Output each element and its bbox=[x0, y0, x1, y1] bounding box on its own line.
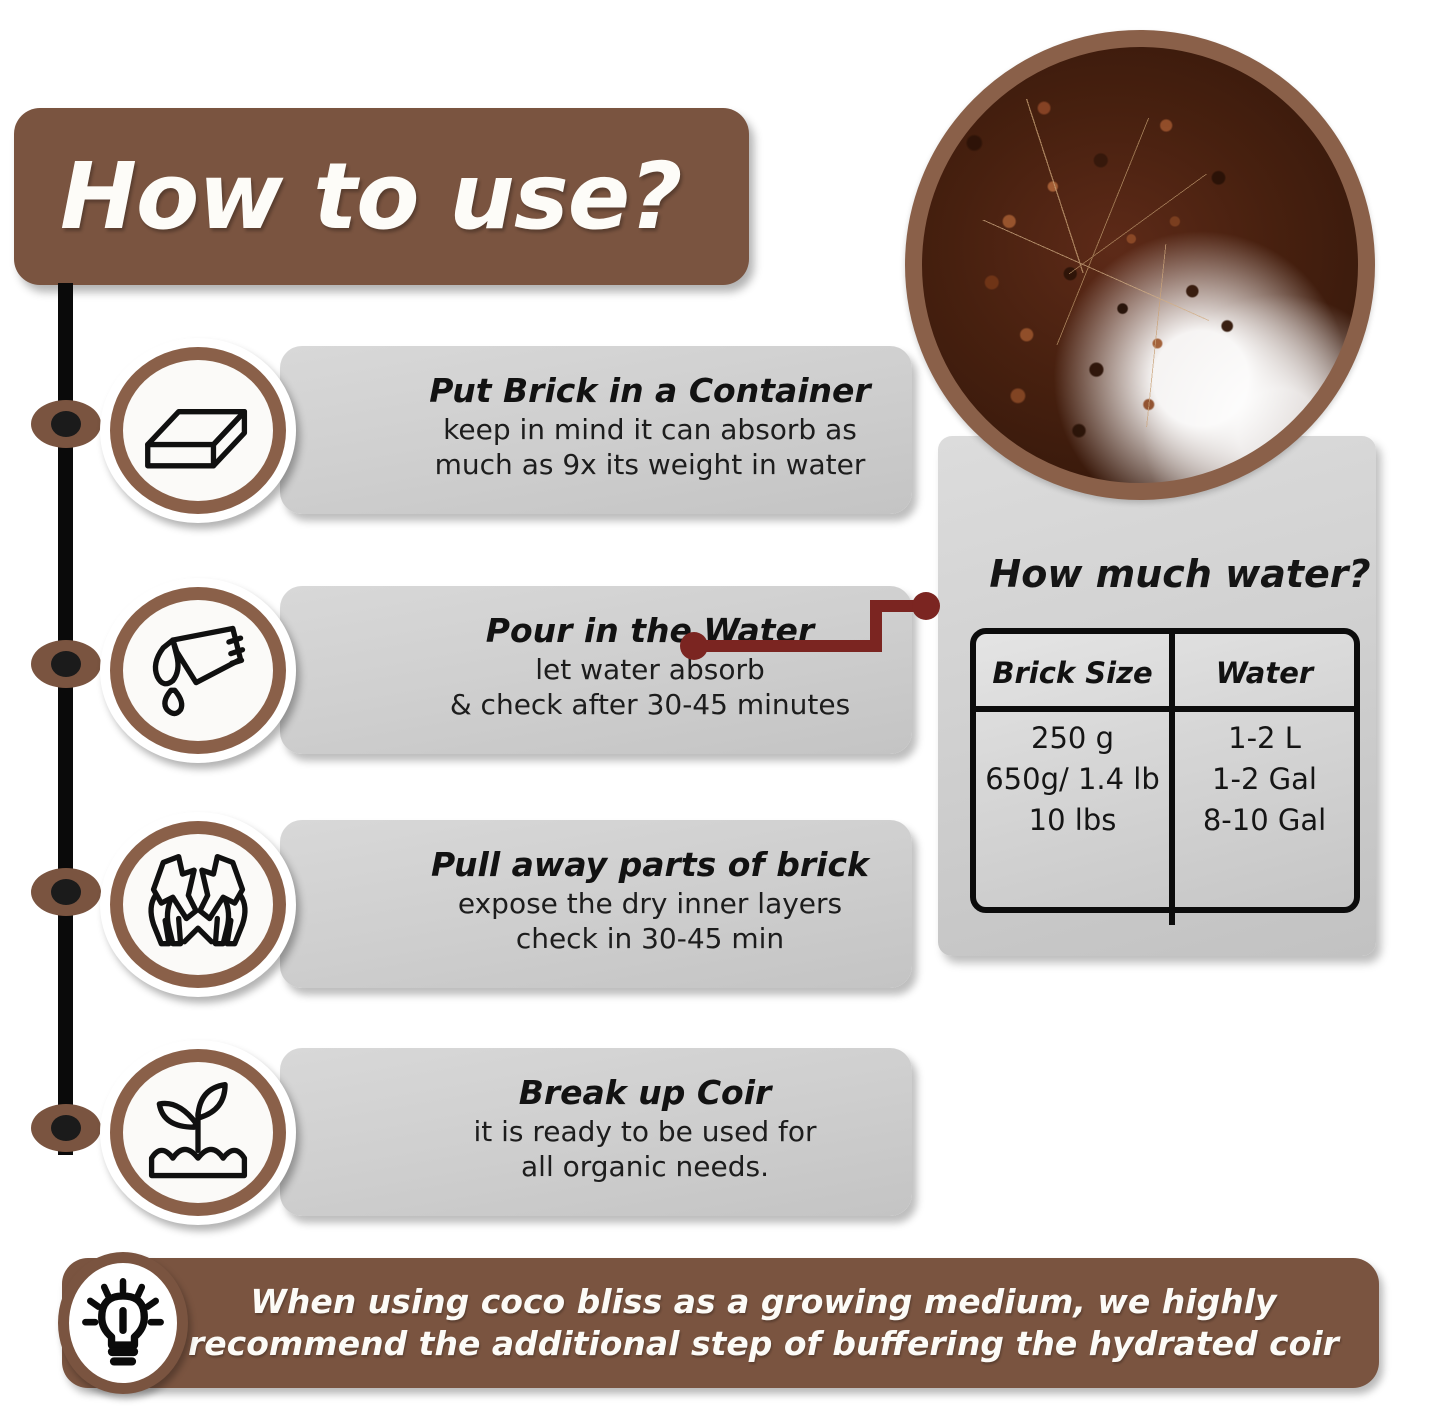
step-1-subtitle-line-1: keep in mind it can absorb as bbox=[443, 413, 857, 448]
footer-tip-line-1: When using coco bliss as a growing mediu… bbox=[188, 1281, 1339, 1323]
step-1-subtitle-line-2: much as 9x its weight in water bbox=[435, 448, 866, 483]
brick-size-row-2: 650g/ 1.4 lb bbox=[985, 759, 1160, 800]
step-3-icon-badge bbox=[100, 812, 296, 997]
table-header-divider bbox=[976, 706, 1354, 712]
water-requirement-table: Brick Size Water 250 g 650g/ 1.4 lb 10 l… bbox=[970, 628, 1360, 913]
table-cell-water-amounts: 1-2 L 1-2 Gal 8-10 Gal bbox=[1175, 718, 1354, 842]
coir-fiber-strands bbox=[922, 47, 1358, 483]
step-4-title: Break up Coir bbox=[519, 1075, 772, 1112]
footer-tip-line-2: recommend the additional step of bufferi… bbox=[188, 1323, 1339, 1365]
step-row-1: Put Brick in a Container keep in mind it… bbox=[100, 338, 912, 523]
footer-tip-banner: When using coco bliss as a growing mediu… bbox=[62, 1258, 1379, 1388]
step-3-subtitle-line-1: expose the dry inner layers bbox=[458, 887, 842, 922]
step-4-icon-badge bbox=[100, 1040, 296, 1225]
brick-size-row-1: 250 g bbox=[1031, 718, 1114, 759]
page-title: How to use? bbox=[60, 151, 681, 243]
table-column-header-water: Water bbox=[1175, 642, 1354, 704]
water-row-3: 8-10 Gal bbox=[1203, 800, 1326, 841]
water-row-1: 1-2 L bbox=[1228, 718, 1301, 759]
seedling-icon bbox=[140, 1075, 256, 1191]
step-card-4: Break up Coir it is ready to be used for… bbox=[280, 1048, 912, 1216]
step-card-1: Put Brick in a Container keep in mind it… bbox=[280, 346, 912, 514]
step-4-subtitle-line-1: it is ready to be used for bbox=[473, 1115, 816, 1150]
step-2-subtitle-line-2: & check after 30-45 minutes bbox=[450, 688, 850, 723]
watering-can-icon bbox=[140, 613, 256, 729]
title-banner: How to use? bbox=[14, 108, 749, 285]
step-row-3: Pull away parts of brick expose the dry … bbox=[100, 812, 912, 997]
step-2-icon-badge bbox=[100, 578, 296, 763]
step-1-icon-badge bbox=[100, 338, 296, 523]
table-cell-brick-sizes: 250 g 650g/ 1.4 lb 10 lbs bbox=[976, 718, 1169, 842]
coco-coir-pile-photo bbox=[905, 30, 1375, 500]
hands-breaking-brick-icon bbox=[140, 847, 256, 963]
connector-dot-right bbox=[912, 592, 940, 620]
step-3-title: Pull away parts of brick bbox=[431, 847, 869, 884]
connector-segment-horizontal-lower bbox=[702, 640, 882, 652]
brick-size-row-3: 10 lbs bbox=[1029, 800, 1117, 841]
timeline-dot-step-1 bbox=[31, 400, 101, 448]
step-1-title: Put Brick in a Container bbox=[429, 373, 870, 410]
timeline-dot-step-4 bbox=[31, 1104, 101, 1152]
step-row-2: Pour in the Water let water absorb & che… bbox=[100, 578, 912, 763]
footer-tip-text: When using coco bliss as a growing mediu… bbox=[188, 1281, 1339, 1365]
water-row-2: 1-2 Gal bbox=[1212, 759, 1317, 800]
infographic-canvas: How to use? Put Brick in a Container kee… bbox=[0, 0, 1445, 1406]
step-card-3: Pull away parts of brick expose the dry … bbox=[280, 820, 912, 988]
step-3-subtitle-line-2: check in 30-45 min bbox=[516, 922, 784, 957]
step-row-4: Break up Coir it is ready to be used for… bbox=[100, 1040, 912, 1225]
brick-icon bbox=[140, 373, 256, 489]
lightbulb-icon bbox=[81, 1278, 165, 1368]
connector-step2-to-water bbox=[680, 590, 1100, 660]
step-4-subtitle-line-2: all organic needs. bbox=[521, 1150, 769, 1185]
footer-icon-badge bbox=[58, 1252, 188, 1394]
timeline-dot-step-2 bbox=[31, 640, 101, 688]
timeline-dot-step-3 bbox=[31, 868, 101, 916]
